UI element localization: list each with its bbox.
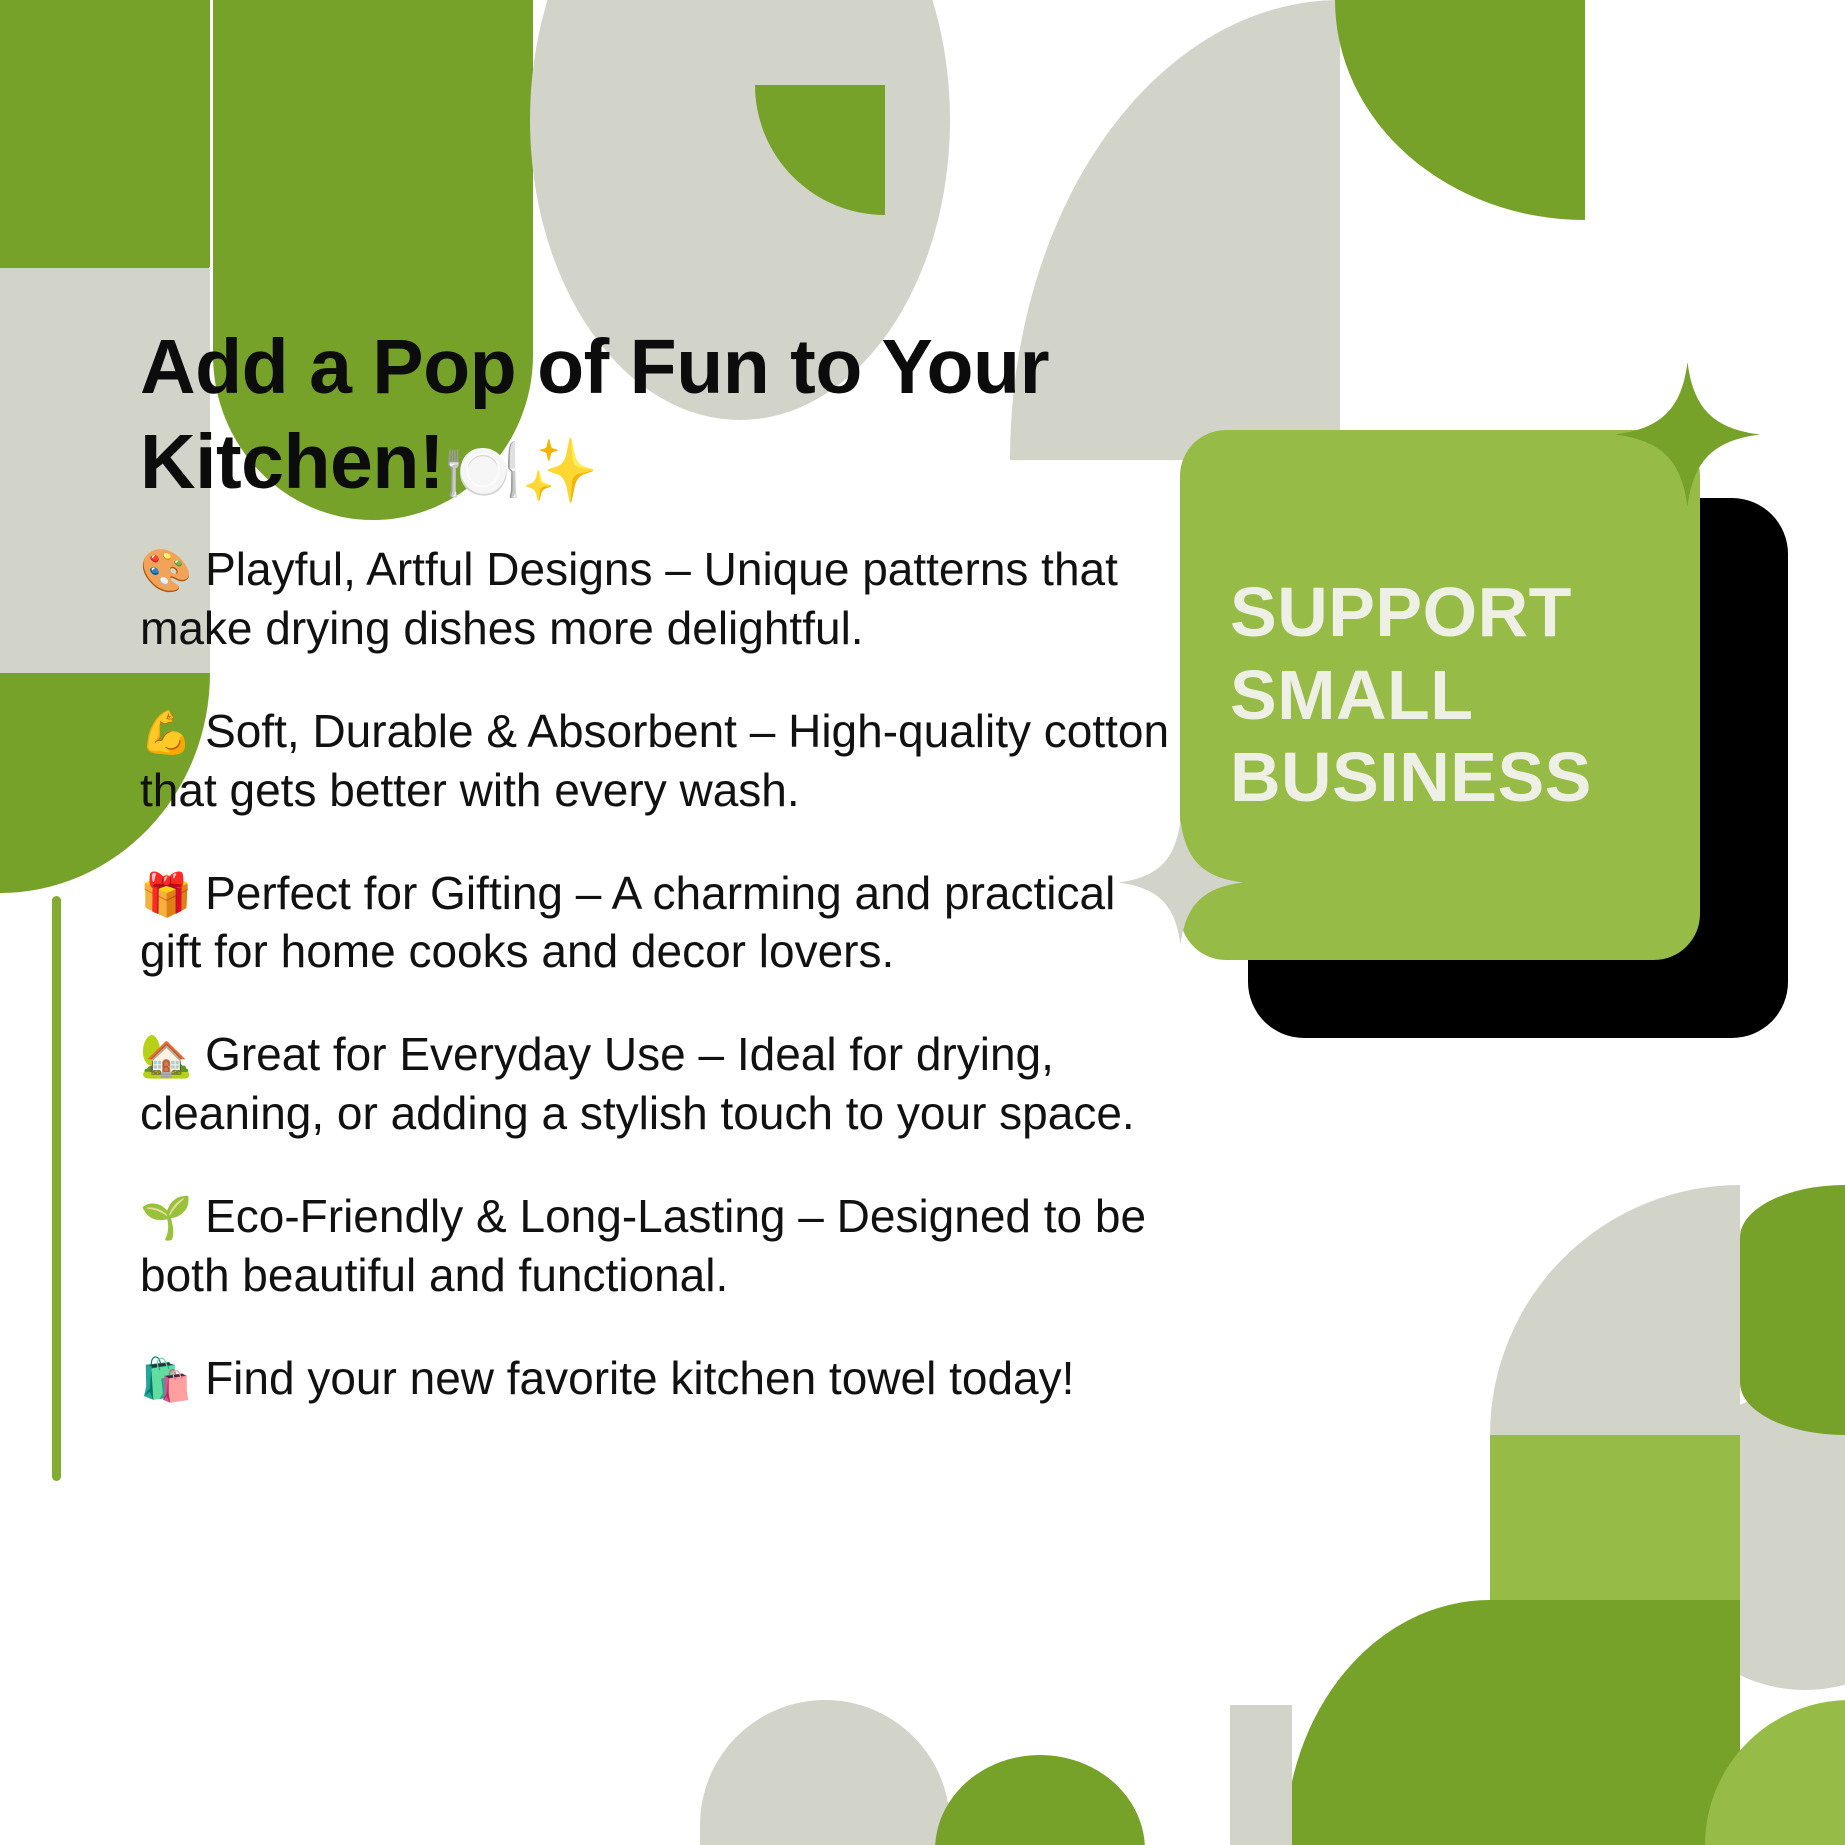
badge-line-1: SUPPORT (1230, 571, 1592, 654)
feature-list: 🎨 Playful, Artful Designs – Unique patte… (140, 540, 1180, 1452)
list-item-text: Find your new favorite kitchen towel tod… (205, 1352, 1074, 1404)
list-item: 🎨 Playful, Artful Designs – Unique patte… (140, 540, 1180, 658)
badge-line-2: SMALL (1230, 654, 1592, 737)
support-small-business-badge: SUPPORT SMALL BUSINESS (1180, 430, 1780, 1050)
poster-content: Add a Pop of Fun to Your Kitchen!🍽️✨ 🎨 P… (0, 0, 1845, 1845)
flexed-biceps-icon: 💪 (140, 709, 192, 756)
badge-line-3: BUSINESS (1230, 736, 1592, 819)
palette-icon: 🎨 (140, 547, 192, 594)
list-item-text: Eco-Friendly & Long-Lasting – Designed t… (140, 1190, 1146, 1301)
poster-canvas: Add a Pop of Fun to Your Kitchen!🍽️✨ 🎨 P… (0, 0, 1845, 1845)
list-item: 🎁 Perfect for Gifting – A charming and p… (140, 864, 1180, 982)
wrapped-gift-icon: 🎁 (140, 871, 192, 918)
house-with-garden-icon: 🏡 (140, 1032, 192, 1079)
badge-card: SUPPORT SMALL BUSINESS (1180, 430, 1700, 960)
badge-text: SUPPORT SMALL BUSINESS (1180, 571, 1592, 819)
sparkle-star-icon (1118, 820, 1243, 945)
list-item-text: Playful, Artful Designs – Unique pattern… (140, 543, 1118, 654)
shopping-bags-icon: 🛍️ (140, 1356, 192, 1403)
list-item: 💪 Soft, Durable & Absorbent – High-quali… (140, 702, 1180, 820)
list-item: 🏡 Great for Everyday Use – Ideal for dry… (140, 1025, 1180, 1143)
headline-line-1: Add a Pop of Fun to Your (140, 324, 1049, 410)
headline-line-2: Kitchen! (140, 419, 444, 505)
list-item-text: Soft, Durable & Absorbent – High-quality… (140, 705, 1169, 816)
page-title: Add a Pop of Fun to Your Kitchen!🍽️✨ (140, 320, 1240, 511)
list-item: 🌱 Eco-Friendly & Long-Lasting – Designed… (140, 1187, 1180, 1305)
plate-cutlery-sparkles-icon: 🍽️✨ (444, 437, 598, 506)
sparkle-star-icon (1615, 362, 1760, 507)
list-item-text: Perfect for Gifting – A charming and pra… (140, 867, 1115, 978)
seedling-icon: 🌱 (140, 1194, 192, 1241)
list-item: 🛍️ Find your new favorite kitchen towel … (140, 1349, 1180, 1408)
list-item-text: Great for Everyday Use – Ideal for dryin… (140, 1028, 1135, 1139)
